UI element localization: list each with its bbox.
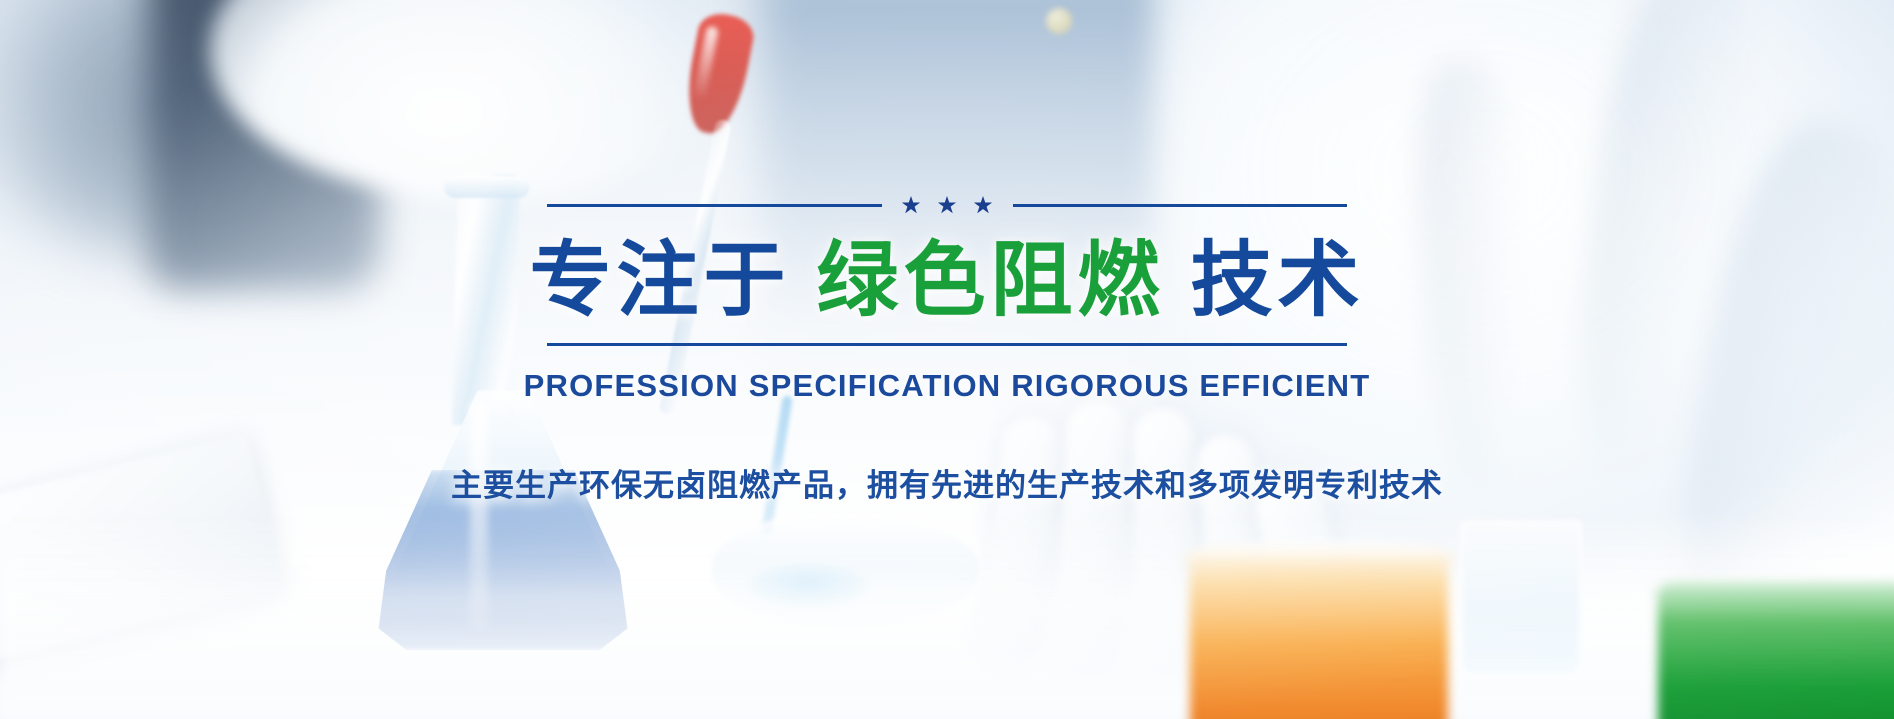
- star-icon: [938, 196, 957, 215]
- rule-right: [1013, 204, 1348, 207]
- star-icon: [902, 196, 921, 215]
- headline: 专注于绿色阻燃技术: [529, 235, 1364, 327]
- banner-content: 专注于绿色阻燃技术 PROFESSION SPECIFICATION RIGOR…: [0, 0, 1894, 719]
- star-icon: [974, 196, 993, 215]
- decorative-rule-row: [547, 196, 1347, 215]
- hero-banner: 专注于绿色阻燃技术 PROFESSION SPECIFICATION RIGOR…: [0, 0, 1894, 719]
- headline-underline: [547, 343, 1347, 346]
- tagline: 主要生产环保无卤阻燃产品，拥有先进的生产技术和多项发明专利技术: [451, 460, 1443, 505]
- headline-part-2: 绿色阻燃: [816, 235, 1164, 326]
- star-group: [896, 196, 999, 215]
- headline-part-3: 技术: [1191, 235, 1365, 326]
- headline-part-1: 专注于: [529, 235, 790, 326]
- english-subtitle: PROFESSION SPECIFICATION RIGOROUS EFFICI…: [524, 368, 1371, 404]
- rule-left: [547, 204, 882, 207]
